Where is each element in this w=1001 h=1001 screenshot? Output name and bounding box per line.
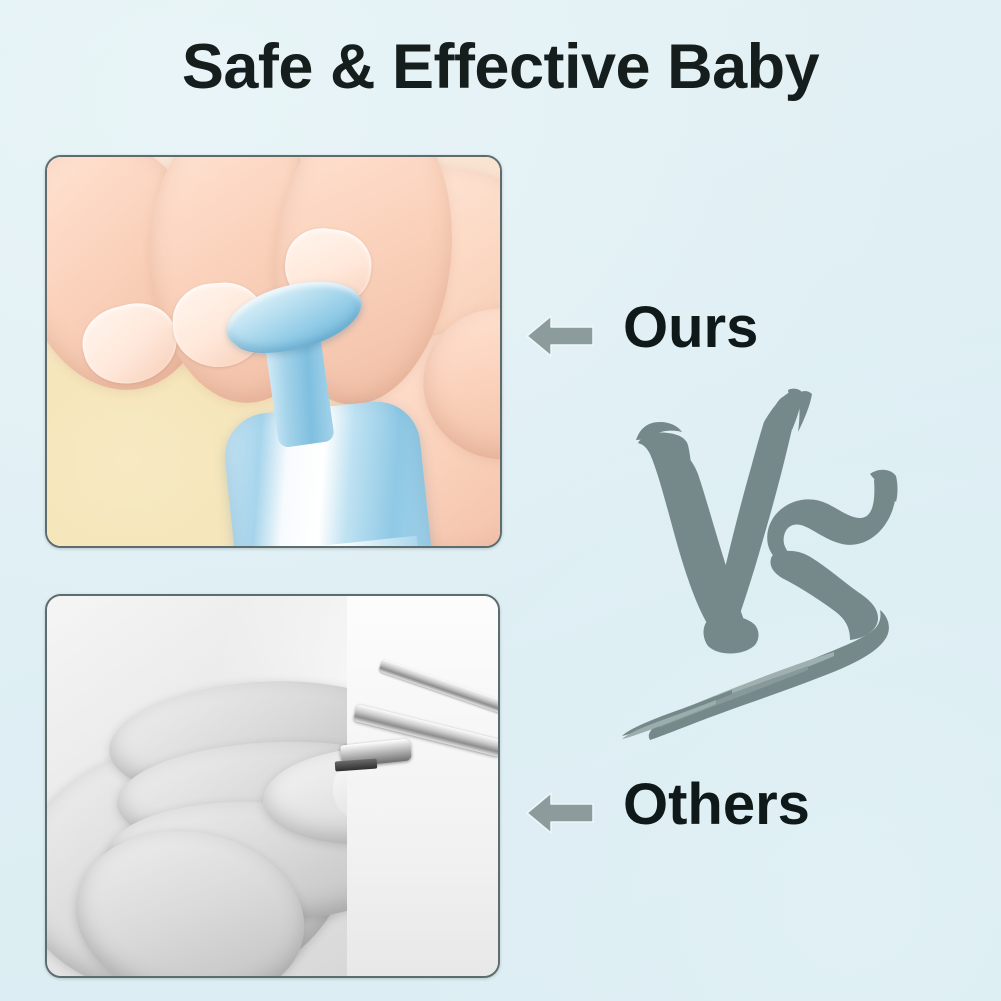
photo-ours-backdrop: [47, 157, 500, 546]
product-comparison-banner: Safe & Effective Baby: [0, 0, 1001, 1001]
photo-others-backdrop: [47, 596, 498, 976]
label-others: Others: [623, 776, 810, 834]
arrow-left-icon-ours: [525, 310, 595, 362]
vs-strokes: [622, 389, 898, 740]
page-title: Safe & Effective Baby: [0, 34, 1001, 100]
background-highlight: [347, 594, 500, 978]
vs-brush-graphic: [612, 388, 912, 740]
arrow-left-icon-others: [525, 787, 595, 839]
photo-ours: [45, 155, 502, 548]
photo-others: [45, 594, 500, 978]
label-ours: Ours: [623, 299, 758, 357]
